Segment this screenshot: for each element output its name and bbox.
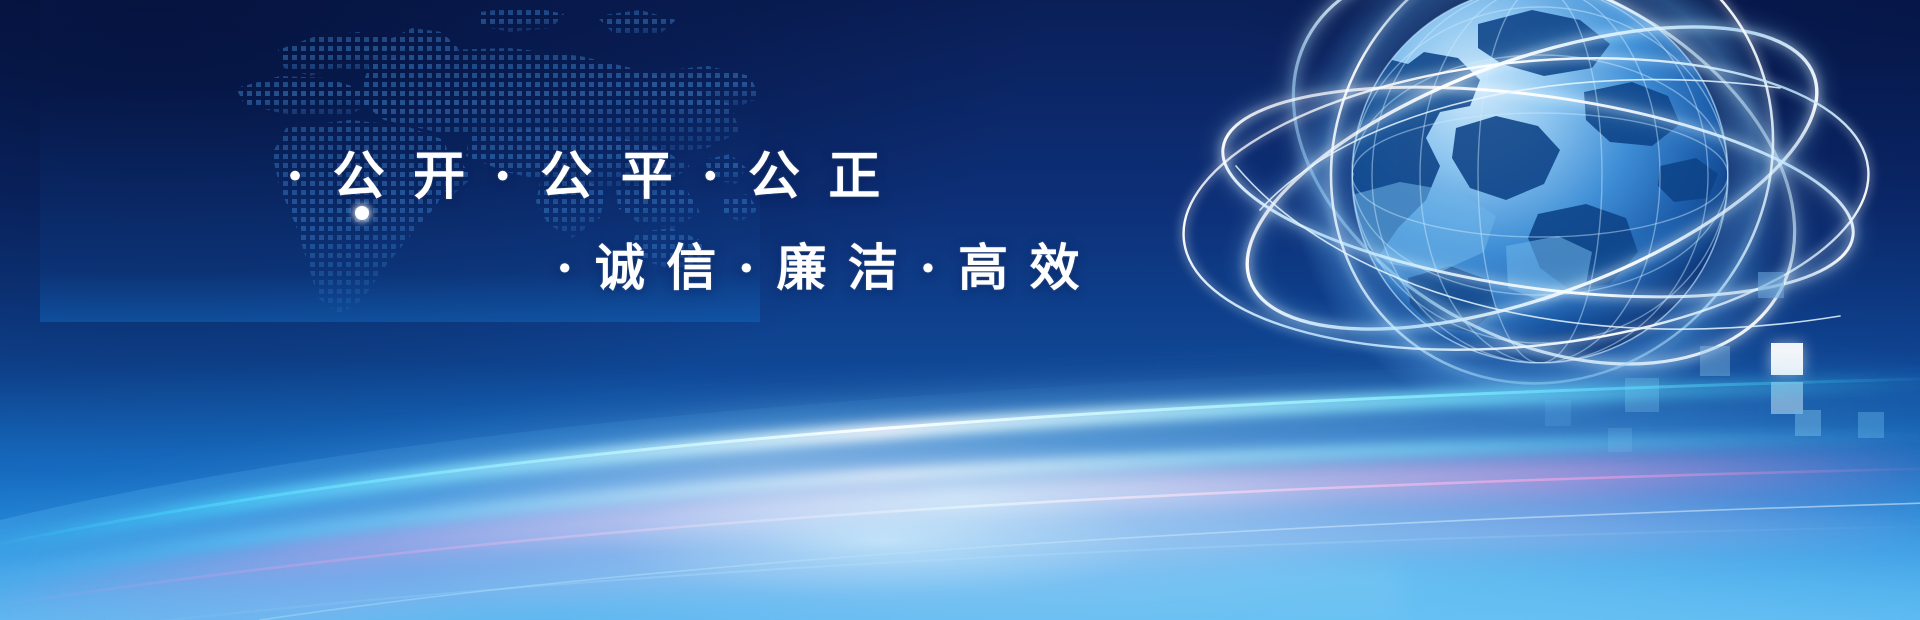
promo-banner: · 公 开 · 公 平 · 公 正 · 诚 信 · 廉 洁 · 高 效 [0,0,1920,620]
slogan-line-1: · 公 开 · 公 平 · 公 正 [286,148,886,206]
slogan-block: · 公 开 · 公 平 · 公 正 · 诚 信 · 廉 洁 · 高 效 [0,0,1100,360]
slogan-line-2: · 诚 信 · 廉 洁 · 高 效 [556,240,1081,296]
